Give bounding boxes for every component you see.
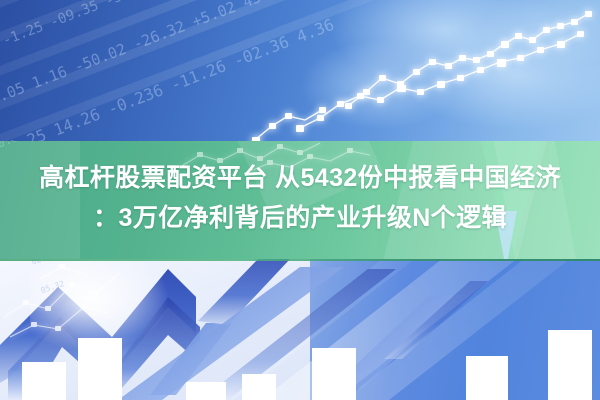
banner-title: 高杠杆股票配资平台 从5432份中报看中国经济 ：3万亿净利背后的产业升级N个逻…: [0, 158, 600, 238]
title-line-1: 高杠杆股票配资平台 从5432份中报看中国经济: [0, 158, 600, 198]
top-blue-section: -0.05 1.16 -50.02 -26.32 +5.02 45.02 +1.…: [0, 0, 600, 150]
stock-news-banner: -0.05 1.16 -50.02 -26.32 +5.02 45.02 +1.…: [0, 0, 600, 400]
section-divider: [0, 259, 600, 261]
ticker-row: +1.25 14.26 -0.236 -11.26 -02.36 4.36: [0, 0, 600, 150]
ticker-number-plane: -0.05 1.16 -50.02 -26.32 +5.02 45.02 +1.…: [0, 0, 600, 150]
bottom-chart-section: 02.32 05.32: [0, 259, 600, 400]
ticker-row: -0.05 1.16 -50.02 -26.32 +5.02 45.02: [0, 0, 600, 120]
title-line-2: ：3万亿净利背后的产业升级N个逻辑: [0, 198, 600, 238]
